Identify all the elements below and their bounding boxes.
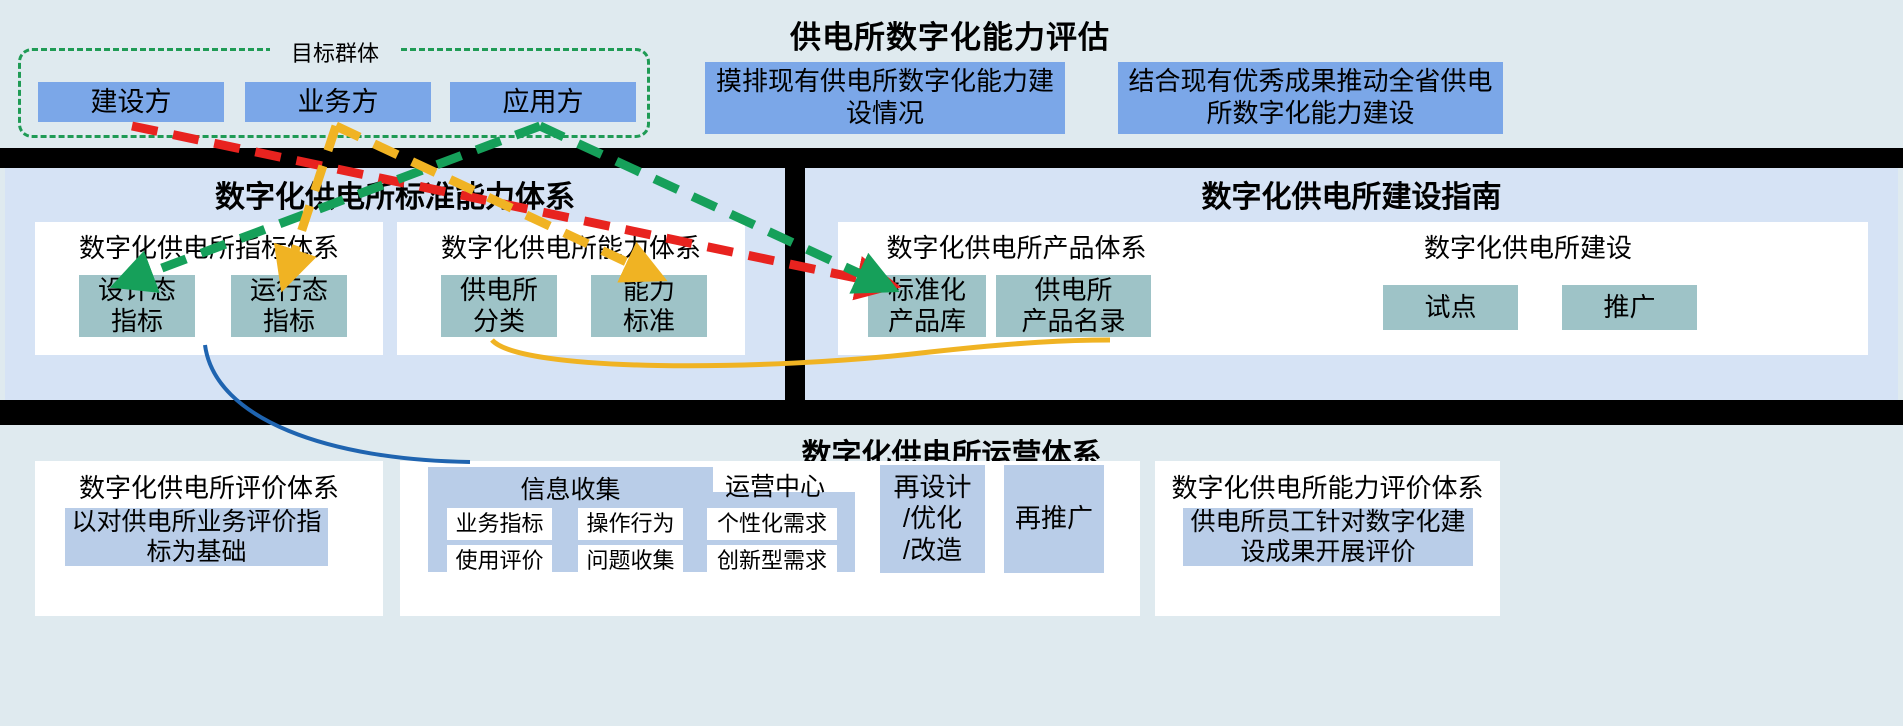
chip-label: 推广 [1603, 292, 1655, 323]
chip-label: 再推广 [1015, 503, 1093, 534]
panel-product-system-title: 数字化供电所产品体系 [838, 228, 1195, 265]
target-item-label: 业务方 [298, 86, 379, 119]
group-operation-center-label: 运营中心 [690, 467, 860, 503]
chip-innovative-demand[interactable]: 创新型需求 [707, 545, 837, 577]
chip-label: 以对供电所业务评价指标为基础 [71, 507, 322, 567]
group-info-collection-label: 信息收集 [428, 470, 713, 506]
chip-runtime-state-indicator[interactable]: 运行态 指标 [231, 275, 347, 337]
chip-label: 操作行为 [586, 511, 674, 536]
chip-design-state-indicator[interactable]: 设计态 指标 [79, 275, 195, 337]
target-item-builder[interactable]: 建设方 [38, 82, 224, 122]
target-item-business[interactable]: 业务方 [245, 82, 431, 122]
chip-capability-evaluation-body[interactable]: 供电所员工针对数字化建设成果开展评价 [1183, 508, 1473, 566]
chip-redesign-optimize-retrofit[interactable]: 再设计 /优化 /改造 [880, 465, 985, 573]
chip-standard-product-library[interactable]: 标准化 产品库 [868, 275, 986, 337]
chip-label: 供电所 产品名录 [1021, 275, 1125, 336]
chip-label: 能力 标准 [623, 275, 675, 336]
page-title: 供电所数字化能力评估 [640, 12, 1260, 57]
chip-pilot[interactable]: 试点 [1383, 285, 1518, 330]
chip-label: 问题收集 [586, 548, 674, 573]
chip-label: 供电所员工针对数字化建设成果开展评价 [1189, 507, 1467, 567]
panel-station-construction-title: 数字化供电所建设 [1188, 228, 1868, 265]
target-item-label: 建设方 [91, 86, 172, 119]
band-standard-capability-title: 数字化供电所标准能力体系 [5, 172, 785, 216]
band-divider-vertical [785, 148, 805, 420]
panel-evaluation-system-title: 数字化供电所评价体系 [35, 468, 383, 505]
chip-label: 标准化 产品库 [888, 275, 966, 336]
chip-label: 设计态 指标 [98, 275, 176, 336]
target-group-label: 目标群体 [270, 36, 400, 68]
chip-label: 个性化需求 [717, 511, 827, 536]
target-item-label: 应用方 [503, 86, 584, 119]
panel-capability-system-title: 数字化供电所能力体系 [397, 228, 745, 265]
chip-repromote[interactable]: 再推广 [1004, 465, 1104, 573]
separator-bar-bottom [0, 400, 1903, 425]
goal-box-survey[interactable]: 摸排现有供电所数字化能力建设情况 [705, 62, 1065, 134]
panel-indicator-system-title: 数字化供电所指标体系 [35, 228, 383, 265]
chip-problem-collection[interactable]: 问题收集 [578, 545, 683, 577]
chip-station-classification[interactable]: 供电所 分类 [441, 275, 557, 337]
panel-capability-evaluation-title: 数字化供电所能力评价体系 [1155, 468, 1500, 505]
separator-bar-top [0, 148, 1903, 168]
chip-capability-standard[interactable]: 能力 标准 [591, 275, 707, 337]
goal-box-promote[interactable]: 结合现有优秀成果推动全省供电所数字化能力建设 [1118, 62, 1503, 134]
chip-operation-behavior[interactable]: 操作行为 [578, 508, 683, 540]
chip-label: 供电所 分类 [460, 275, 538, 336]
target-item-application[interactable]: 应用方 [450, 82, 636, 122]
chip-promotion[interactable]: 推广 [1562, 285, 1697, 330]
chip-label: 创新型需求 [717, 548, 827, 573]
chip-label: 业务指标 [455, 511, 543, 536]
chip-label: 再设计 /优化 /改造 [893, 472, 971, 566]
chip-usage-evaluation[interactable]: 使用评价 [447, 545, 552, 577]
chip-label: 试点 [1424, 292, 1476, 323]
chip-label: 使用评价 [455, 548, 543, 573]
goal-box-label: 摸排现有供电所数字化能力建设情况 [715, 66, 1055, 129]
goal-box-label: 结合现有优秀成果推动全省供电所数字化能力建设 [1128, 66, 1493, 129]
band-construction-guide-title: 数字化供电所建设指南 [805, 172, 1898, 216]
chip-evaluation-basis[interactable]: 以对供电所业务评价指标为基础 [65, 508, 328, 566]
chip-personalized-demand[interactable]: 个性化需求 [707, 508, 837, 540]
chip-station-product-catalog[interactable]: 供电所 产品名录 [996, 275, 1151, 337]
diagram-root: 供电所数字化能力评估 目标群体 建设方 业务方 应用方 摸排现有供电所数字化能力… [0, 0, 1903, 726]
chip-business-indicator[interactable]: 业务指标 [447, 508, 552, 540]
chip-label: 运行态 指标 [250, 275, 328, 336]
